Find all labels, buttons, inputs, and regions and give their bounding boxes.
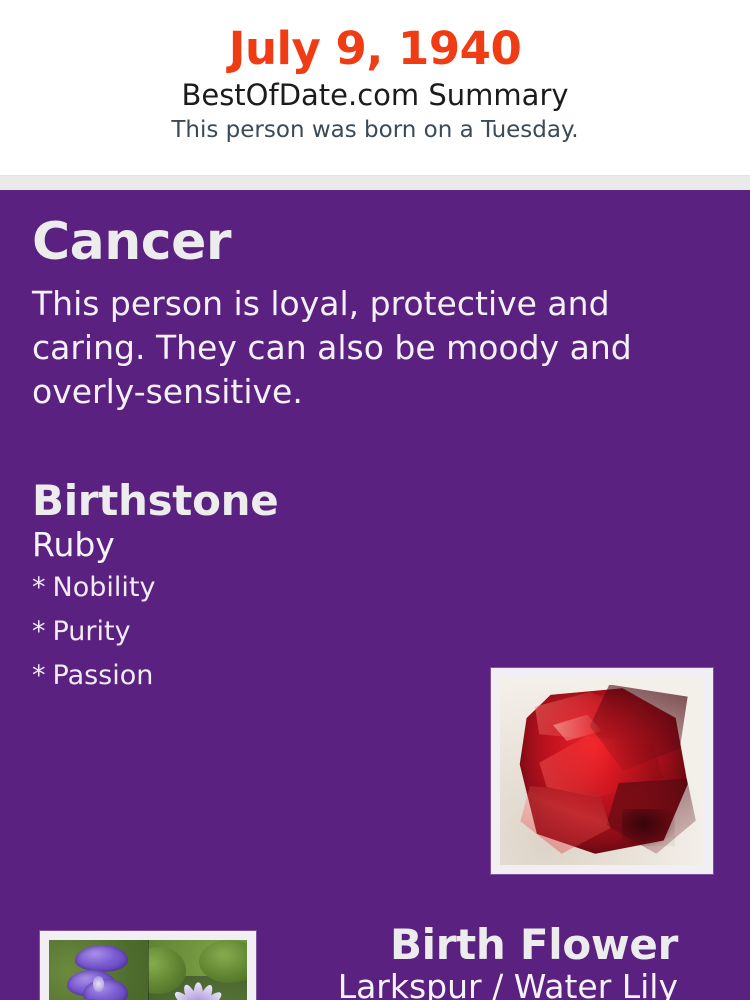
birthstone-heading: Birthstone: [32, 479, 462, 523]
ruby-crystal-image: [500, 677, 704, 865]
header-divider: [0, 175, 750, 190]
site-name: BestOfDate.com Summary: [0, 77, 750, 114]
list-item: *Nobility: [32, 574, 462, 601]
zodiac-section: Cancer This person is loyal, protective …: [0, 190, 750, 414]
page-header: July 9, 1940 BestOfDate.com Summary This…: [0, 0, 750, 175]
zodiac-sign-name: Cancer: [32, 216, 718, 268]
birthstone-image-frame: [491, 668, 713, 874]
birthstone-trait-label: Nobility: [53, 572, 156, 603]
birthstone-trait-label: Passion: [53, 660, 154, 691]
birthstone-trait-label: Purity: [53, 616, 131, 647]
birthstone-section: Birthstone Ruby *Nobility *Purity *Passi…: [32, 479, 462, 706]
zodiac-description: This person is loyal, protective and car…: [32, 282, 652, 414]
waterlily-bloom: [162, 979, 235, 1000]
summary-panel: Cancer This person is loyal, protective …: [0, 190, 750, 1000]
birthflower-heading: Birth Flower: [276, 923, 678, 967]
ruby-crystal-shape: [516, 688, 687, 853]
list-item: *Purity: [32, 618, 462, 645]
bullet-asterisk-icon: *: [32, 616, 46, 647]
birthflower-name: Larkspur / Water Lily: [276, 969, 678, 1000]
larkspur-waterlily-image: [49, 940, 247, 1000]
larkspur-bloom: [83, 979, 129, 1000]
bullet-asterisk-icon: *: [32, 660, 46, 691]
birthstone-name: Ruby: [32, 527, 462, 564]
bullet-asterisk-icon: *: [32, 572, 46, 603]
larkspur-bloom: [75, 945, 128, 972]
birthflower-section: Birth Flower Larkspur / Water Lily *Posi…: [276, 923, 678, 1000]
birth-weekday-text: This person was born on a Tuesday.: [0, 116, 750, 146]
birthflower-image-frame: [40, 931, 256, 1000]
list-item: *Passion: [32, 662, 462, 689]
page-title: July 9, 1940: [0, 22, 750, 75]
larkspur-photo: [49, 940, 148, 1000]
birthstone-trait-list: *Nobility *Purity *Passion: [32, 574, 462, 689]
waterlily-photo: [148, 940, 247, 1000]
image-split-divider: [148, 940, 149, 1000]
